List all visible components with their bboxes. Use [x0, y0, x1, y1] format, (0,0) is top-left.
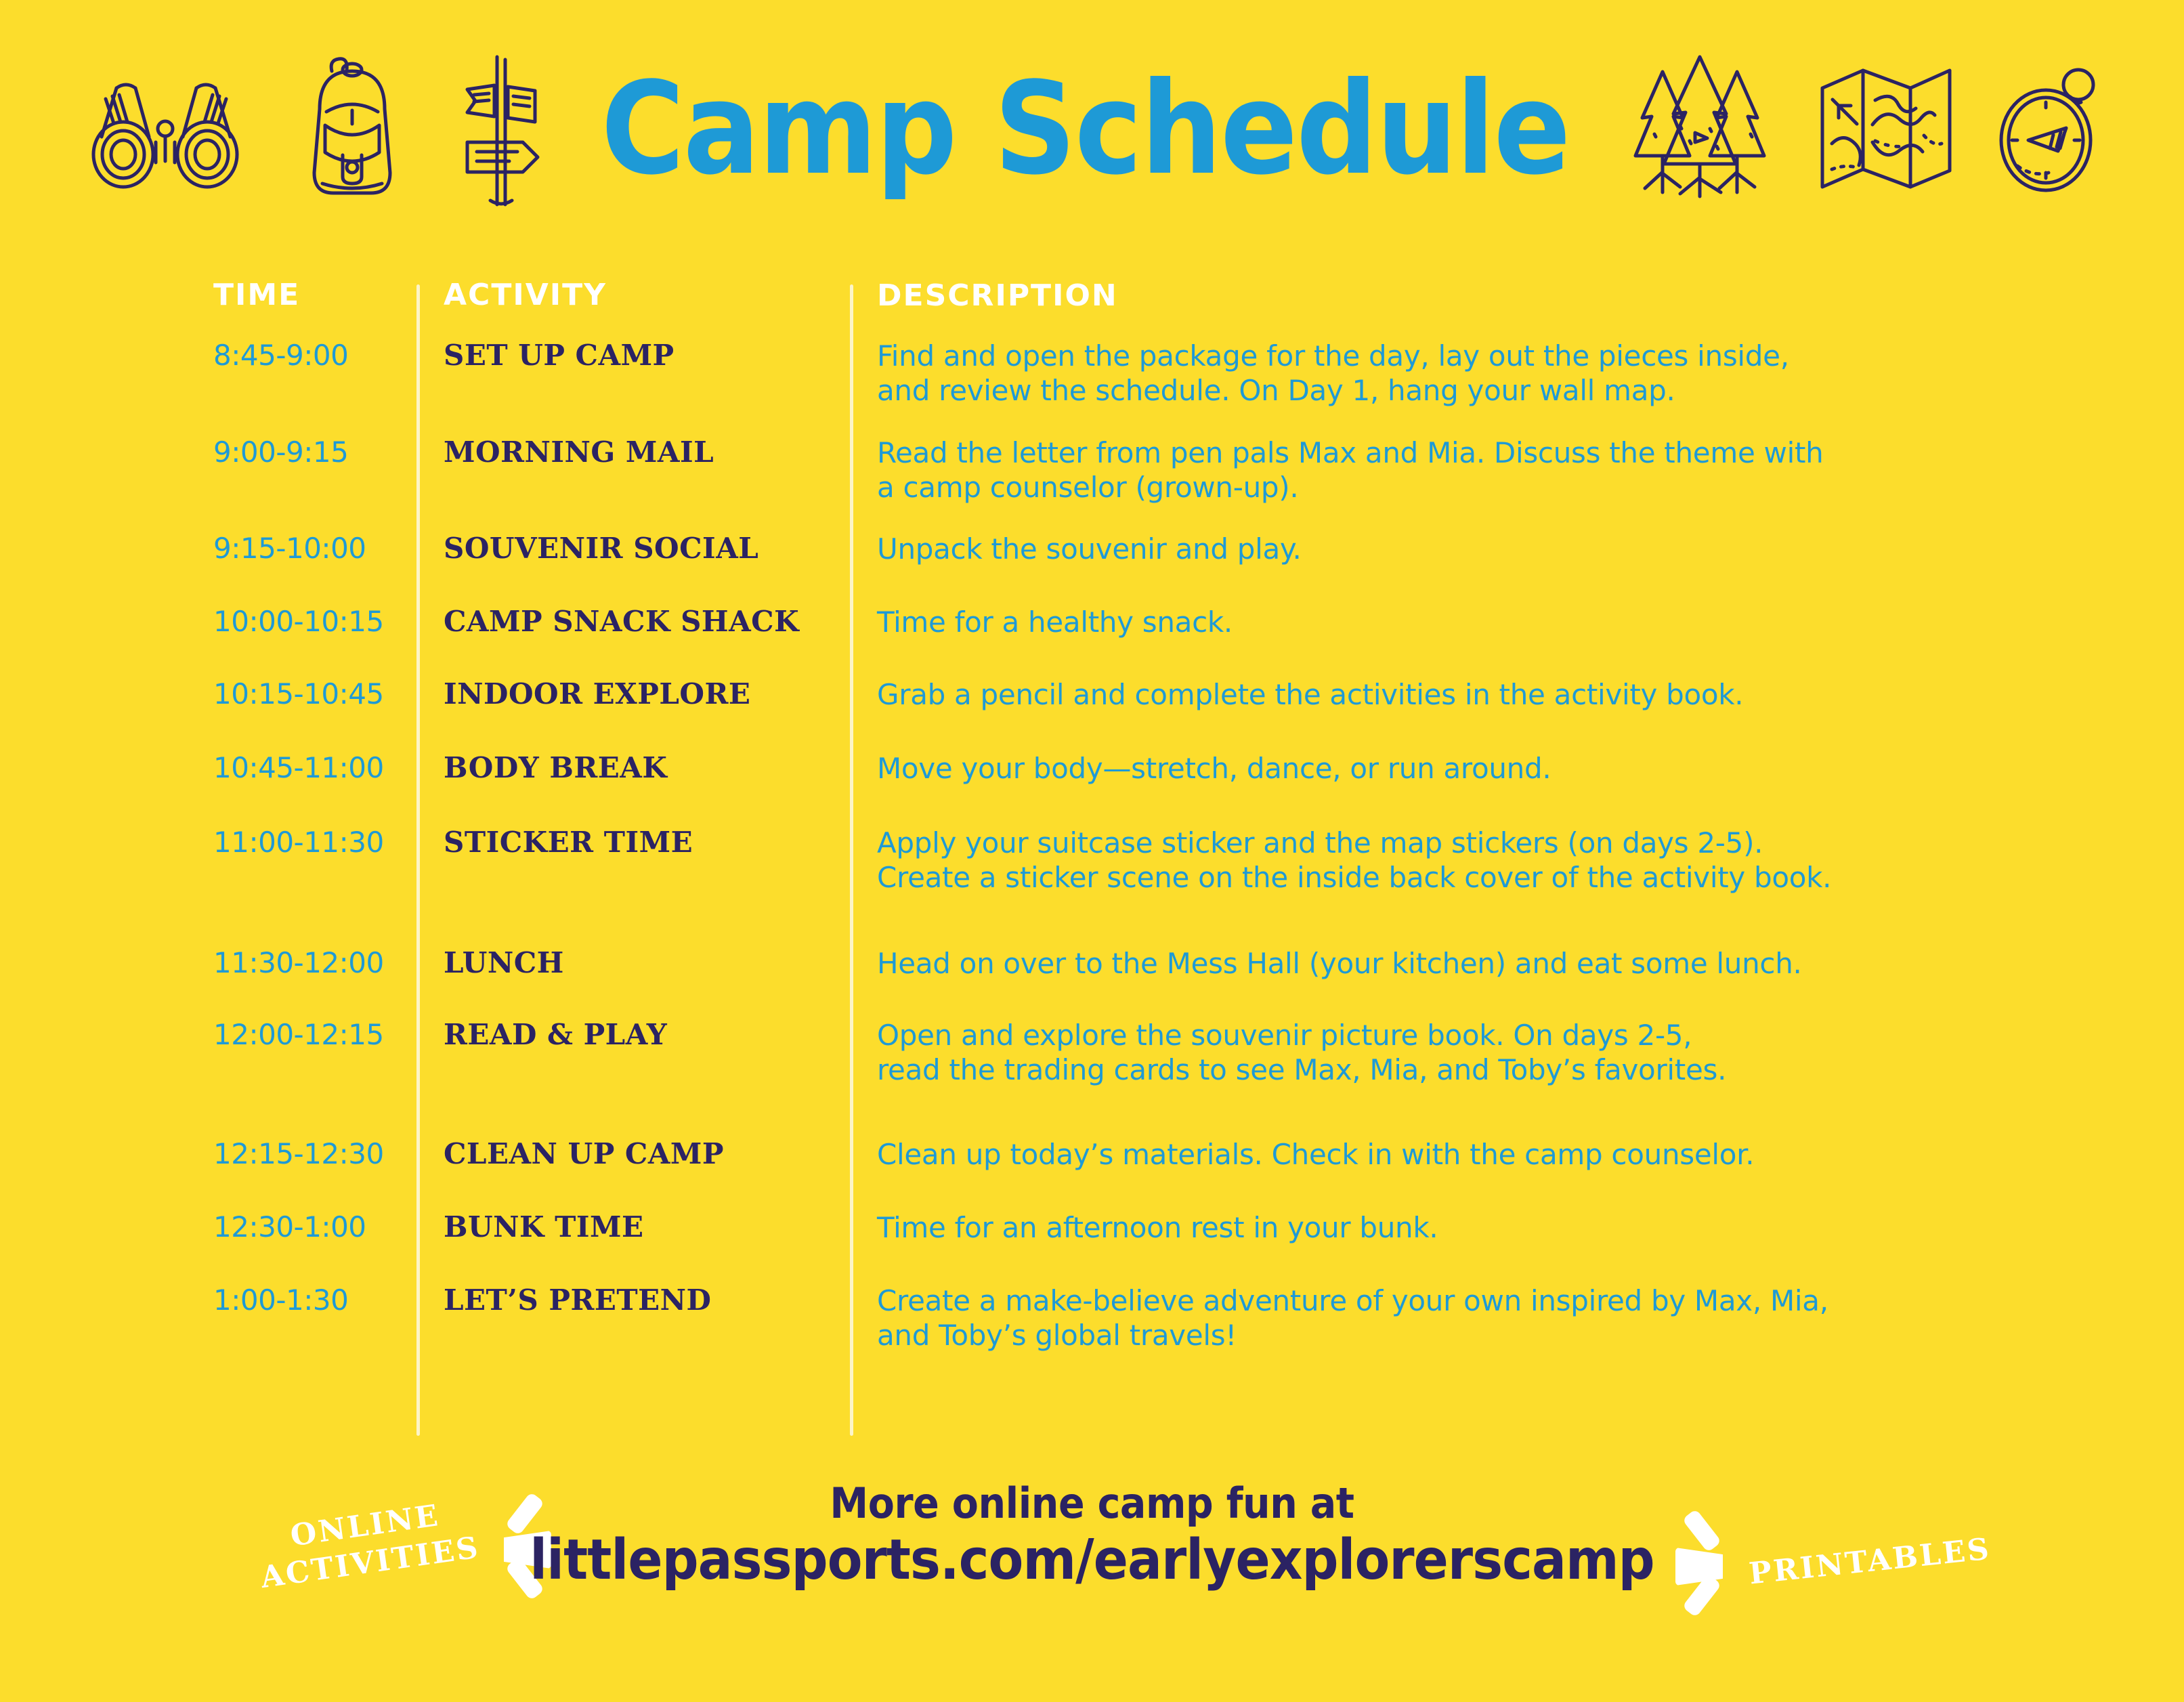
table-row: 12:15-12:30 CLEAN UP CAMP Clean up today…	[203, 1137, 2032, 1210]
row-time: 8:45-9:00	[203, 339, 416, 372]
row-time: 10:15-10:45	[203, 677, 416, 710]
table-row: 10:45-11:00 BODY BREAK Move your body—st…	[203, 751, 2032, 826]
row-activity: CAMP SNACK SHACK	[416, 605, 850, 638]
row-activity: STICKER TIME	[416, 826, 850, 859]
row-time: 10:00-10:15	[203, 605, 416, 638]
desc-line: Apply your suitcase sticker and the map …	[877, 826, 2032, 860]
row-activity: LUNCH	[416, 946, 850, 979]
row-time: 10:45-11:00	[203, 751, 416, 784]
row-activity: READ & PLAY	[416, 1018, 850, 1051]
column-header-description: DESCRIPTION	[850, 278, 2032, 314]
camp-schedule-poster: Camp Schedule	[0, 0, 2184, 1702]
table-row: 10:15-10:45 INDOOR EXPLORE Grab a pencil…	[203, 677, 2032, 751]
poster-footer: ONLINE ACTIVITIES More online camp fun a…	[0, 1470, 2184, 1693]
table-header-row: TIME ACTIVITY DESCRIPTION	[203, 278, 2032, 339]
table-row: 9:15-10:00 SOUVENIR SOCIAL Unpack the so…	[203, 532, 2032, 605]
poster-header: Camp Schedule	[0, 41, 2184, 217]
folded-map-icon	[1812, 61, 1961, 196]
desc-line: a camp counselor (grown-up).	[877, 470, 2032, 505]
binoculars-icon	[74, 61, 257, 196]
row-time: 12:30-1:00	[203, 1210, 416, 1243]
printables-label: PRINTABLES	[1747, 1530, 1992, 1592]
desc-line: Head on over to the Mess Hall (your kitc…	[877, 946, 2032, 981]
column-header-activity: ACTIVITY	[416, 278, 850, 312]
table-row: 12:00-12:15 READ & PLAY Open and explore…	[203, 1018, 2032, 1137]
desc-line: Clean up today’s materials. Check in wit…	[877, 1137, 2032, 1172]
compass-icon	[1988, 56, 2110, 202]
backpack-icon	[284, 51, 420, 207]
schedule-table: TIME ACTIVITY DESCRIPTION 8:45-9:00 SET …	[203, 278, 2032, 1371]
table-row: 11:00-11:30 STICKER TIME Apply your suit…	[203, 826, 2032, 946]
row-description: Time for a healthy snack.	[850, 605, 2032, 639]
row-activity: SOUVENIR SOCIAL	[416, 532, 850, 565]
table-row: 11:30-12:00 LUNCH Head on over to the Me…	[203, 946, 2032, 1018]
desc-line: and Toby’s global travels!	[877, 1318, 2032, 1353]
printables-badge: PRINTABLES	[1652, 1507, 1991, 1615]
desc-line: Read the letter from pen pals Max and Mi…	[877, 435, 2032, 470]
row-time: 1:00-1:30	[203, 1283, 416, 1317]
column-header-time: TIME	[203, 278, 416, 312]
row-description: Open and explore the souvenir picture bo…	[850, 1018, 2032, 1087]
row-time: 12:15-12:30	[203, 1137, 416, 1170]
desc-line: Time for a healthy snack.	[877, 605, 2032, 639]
table-row: 12:30-1:00 BUNK TIME Time for an afterno…	[203, 1210, 2032, 1283]
table-row: 8:45-9:00 SET UP CAMP Find and open the …	[203, 339, 2032, 435]
sparkle-burst-icon	[1652, 1507, 1734, 1615]
row-description: Find and open the package for the day, l…	[850, 339, 2032, 408]
row-activity: SET UP CAMP	[416, 339, 850, 372]
table-row: 1:00-1:30 LET’S PRETEND Create a make-be…	[203, 1283, 2032, 1371]
row-description: Create a make-believe adventure of your …	[850, 1283, 2032, 1353]
desc-line: and review the schedule. On Day 1, hang …	[877, 373, 2032, 408]
desc-line: read the trading cards to see Max, Mia, …	[877, 1052, 2032, 1087]
page-title: Camp Schedule	[582, 65, 1589, 192]
row-time: 11:30-12:00	[203, 946, 416, 979]
desc-line: Move your body—stretch, dance, or run ar…	[877, 751, 2032, 786]
row-time: 12:00-12:15	[203, 1018, 416, 1051]
desc-line: Grab a pencil and complete the activitie…	[877, 677, 2032, 712]
desc-line: Open and explore the souvenir picture bo…	[877, 1018, 2032, 1052]
row-time: 9:15-10:00	[203, 532, 416, 565]
desc-line: Unpack the souvenir and play.	[877, 532, 2032, 566]
desc-line: Time for an afternoon rest in your bunk.	[877, 1210, 2032, 1245]
row-description: Head on over to the Mess Hall (your kitc…	[850, 946, 2032, 981]
row-activity: CLEAN UP CAMP	[416, 1137, 850, 1170]
desc-line: Find and open the package for the day, l…	[877, 339, 2032, 373]
row-description: Read the letter from pen pals Max and Mi…	[850, 435, 2032, 505]
row-activity: LET’S PRETEND	[416, 1283, 850, 1317]
desc-line: Create a sticker scene on the inside bac…	[877, 860, 2032, 895]
row-activity: BODY BREAK	[416, 751, 850, 784]
signpost-icon	[447, 47, 555, 210]
row-description: Time for an afternoon rest in your bunk.	[850, 1210, 2032, 1245]
row-time: 9:00-9:15	[203, 435, 416, 469]
row-description: Apply your suitcase sticker and the map …	[850, 826, 2032, 895]
table-row: 9:00-9:15 MORNING MAIL Read the letter f…	[203, 435, 2032, 532]
row-activity: MORNING MAIL	[416, 435, 850, 469]
pine-trees-icon	[1615, 53, 1784, 205]
desc-line: Create a make-believe adventure of your …	[877, 1283, 2032, 1318]
row-description: Clean up today’s materials. Check in wit…	[850, 1137, 2032, 1172]
row-description: Unpack the souvenir and play.	[850, 532, 2032, 566]
row-activity: BUNK TIME	[416, 1210, 850, 1243]
table-row: 10:00-10:15 CAMP SNACK SHACK Time for a …	[203, 605, 2032, 677]
row-description: Grab a pencil and complete the activitie…	[850, 677, 2032, 712]
row-activity: INDOOR EXPLORE	[416, 677, 850, 710]
row-time: 11:00-11:30	[203, 826, 416, 859]
row-description: Move your body—stretch, dance, or run ar…	[850, 751, 2032, 786]
